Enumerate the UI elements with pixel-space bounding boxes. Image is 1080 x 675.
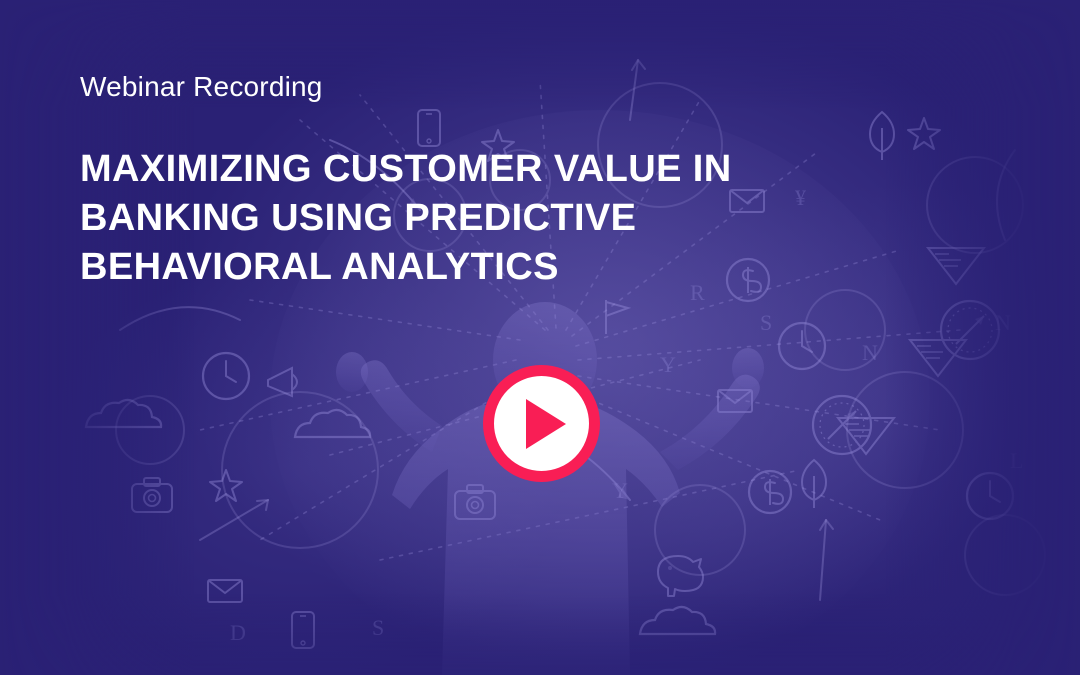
play-icon bbox=[526, 399, 566, 449]
eyebrow-label: Webinar Recording bbox=[80, 70, 323, 104]
play-button[interactable] bbox=[483, 365, 600, 482]
headline-line-2: BANKING USING PREDICTIVE bbox=[80, 194, 870, 243]
svg-text:Y: Y bbox=[660, 352, 676, 377]
headline-line-3: BEHAVIORAL ANALYTICS bbox=[80, 243, 870, 292]
svg-text:N: N bbox=[862, 340, 878, 365]
svg-text:L: L bbox=[1010, 448, 1023, 473]
webinar-hero-card: N N R S S L Y ¥ D Y bbox=[0, 0, 1080, 675]
page-title: MAXIMIZING CUSTOMER VALUE IN BANKING USI… bbox=[80, 145, 870, 292]
headline-line-1: MAXIMIZING CUSTOMER VALUE IN bbox=[80, 145, 870, 194]
svg-text:D: D bbox=[230, 620, 246, 645]
svg-text:S: S bbox=[372, 615, 384, 640]
svg-text:S: S bbox=[760, 310, 772, 335]
svg-text:N: N bbox=[995, 310, 1011, 335]
